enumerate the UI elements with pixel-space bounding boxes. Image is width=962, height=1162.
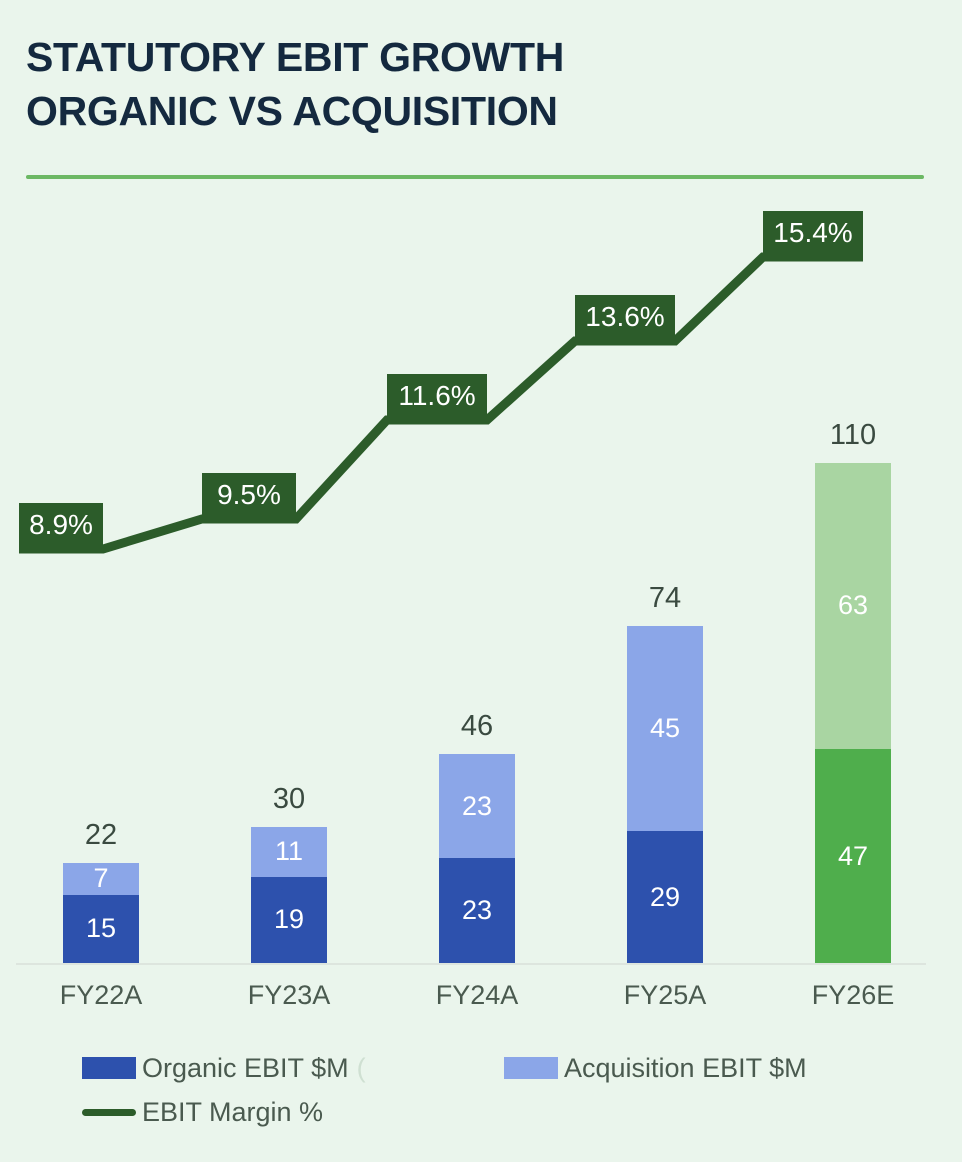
legend: Organic EBIT $M ( Acquisition EBIT $M EB… — [82, 1046, 942, 1134]
margin-value-label[interactable]: 13.6% — [575, 295, 675, 341]
bar-segment-acquisition[interactable]: 45 — [627, 626, 703, 831]
legend-label-margin: EBIT Margin % — [142, 1097, 323, 1128]
bar-group[interactable]: 462323 — [439, 754, 515, 963]
margin-value-label[interactable]: 9.5% — [202, 473, 296, 519]
bar-total-label: 74 — [597, 582, 733, 615]
bar-total-label: 110 — [785, 419, 921, 452]
legend-line-margin-icon — [82, 1109, 136, 1116]
bar-group[interactable]: 1106347 — [815, 463, 891, 964]
margin-value-label[interactable]: 15.4% — [763, 211, 863, 257]
bar-total-label: 30 — [221, 783, 357, 816]
legend-label-acquisition: Acquisition EBIT $M — [564, 1053, 807, 1084]
legend-item-margin[interactable]: EBIT Margin % — [82, 1097, 323, 1128]
margin-value-label[interactable]: 11.6% — [387, 374, 487, 420]
bar-group[interactable]: 744529 — [627, 626, 703, 963]
x-tick-label: FY23A — [199, 980, 379, 1011]
legend-swatch-acquisition-icon — [504, 1057, 558, 1079]
bar-segment-acquisition[interactable]: 63 — [815, 463, 891, 750]
bar-segment-organic[interactable]: 47 — [815, 749, 891, 963]
bar-total-label: 22 — [33, 819, 169, 852]
x-tick-label: FY25A — [575, 980, 755, 1011]
margin-value-label[interactable]: 8.9% — [19, 503, 103, 549]
x-tick-label: FY24A — [387, 980, 567, 1011]
legend-row-2: EBIT Margin % — [82, 1090, 942, 1134]
bar-group[interactable]: 301119 — [251, 827, 327, 964]
bar-segment-organic[interactable]: 15 — [63, 895, 139, 963]
x-tick-label: FY22A — [11, 980, 191, 1011]
chart-canvas: Statutory EBIT Growth Organic vs Acquisi… — [0, 0, 962, 1162]
x-tick-label: FY26E — [763, 980, 943, 1011]
legend-clipped-glyph: ( — [357, 1053, 367, 1084]
bar-segment-acquisition[interactable]: 23 — [439, 754, 515, 859]
plot-area: 227153011194623237445291106347 8.9%9.5%1… — [0, 0, 962, 1162]
bar-group[interactable]: 22715 — [63, 863, 139, 963]
x-axis-line — [16, 963, 926, 965]
bar-segment-organic[interactable]: 29 — [627, 831, 703, 963]
legend-swatch-organic-icon — [82, 1057, 136, 1079]
bar-segment-acquisition[interactable]: 7 — [63, 863, 139, 895]
bar-segment-organic[interactable]: 23 — [439, 858, 515, 963]
legend-item-acquisition[interactable]: Acquisition EBIT $M — [504, 1053, 807, 1084]
bar-segment-acquisition[interactable]: 11 — [251, 827, 327, 877]
bar-total-label: 46 — [409, 710, 545, 743]
legend-row-1: Organic EBIT $M ( Acquisition EBIT $M — [82, 1046, 942, 1090]
legend-item-organic[interactable]: Organic EBIT $M ( — [82, 1053, 504, 1084]
legend-label-organic: Organic EBIT $M — [142, 1053, 349, 1084]
bar-segment-organic[interactable]: 19 — [251, 877, 327, 963]
